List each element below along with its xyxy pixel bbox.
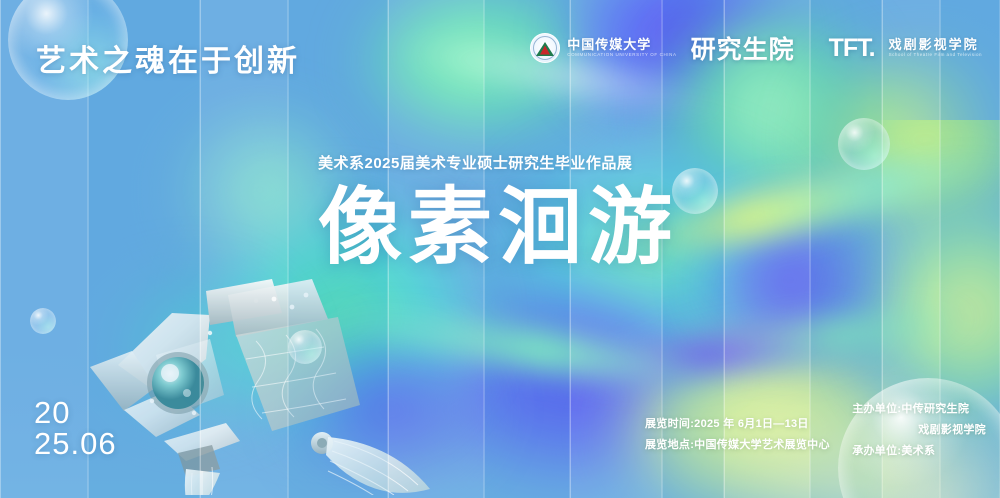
exhibition-info: 展览时间:2025 年 6月1日—13日 展览地点:中国传媒大学艺术展览中心 bbox=[645, 414, 830, 456]
university-name-en: COMMUNICATION UNIVERSITY OF CHINA bbox=[567, 53, 676, 58]
cuc-logo: 中国传媒大学 COMMUNICATION UNIVERSITY OF CHINA bbox=[530, 33, 676, 63]
graduate-school-label: 研究生院 bbox=[691, 30, 795, 66]
date-yearmonth: 25.06 bbox=[34, 428, 117, 460]
tft-name-en: School of Theatre Film and Television bbox=[889, 53, 982, 58]
organizer-line-1: 主办单位:中传研究生院 bbox=[852, 399, 986, 420]
exhibition-subtitle: 美术系2025届美术专业硕士研究生毕业作品展 bbox=[318, 152, 632, 173]
tft-wordmark: TFT. bbox=[829, 34, 875, 63]
organizer-line-2: 戏剧影视学院 bbox=[852, 420, 986, 441]
page-title: 像素洄游 bbox=[318, 185, 678, 269]
bubble-icon bbox=[672, 168, 718, 214]
bubble-icon bbox=[288, 330, 322, 364]
tagline: 艺术之魂在于创新 bbox=[36, 36, 300, 80]
university-name-cn: 中国传媒大学 bbox=[567, 38, 676, 52]
cuc-emblem-icon bbox=[530, 33, 560, 63]
date-block: 20 25.06 bbox=[34, 397, 117, 460]
date-year: 20 bbox=[34, 397, 117, 429]
organizer-info: 主办单位:中传研究生院 戏剧影视学院 承办单位:美术系 bbox=[852, 399, 986, 462]
logo-lockup: 中国传媒大学 COMMUNICATION UNIVERSITY OF CHINA… bbox=[530, 30, 982, 66]
exhibition-time: 展览时间:2025 年 6月1日—13日 bbox=[645, 414, 830, 435]
exhibition-place: 展览地点:中国传媒大学艺术展览中心 bbox=[645, 435, 830, 456]
undertaker-line: 承办单位:美术系 bbox=[852, 441, 986, 462]
bubble-icon bbox=[838, 118, 890, 170]
bubble-icon bbox=[30, 308, 56, 334]
tft-name-cn: 戏剧影视学院 bbox=[889, 38, 982, 52]
exhibition-poster: 艺术之魂在于创新 中国传媒大学 COMMUNICATION UNIVERSITY… bbox=[0, 0, 1000, 498]
